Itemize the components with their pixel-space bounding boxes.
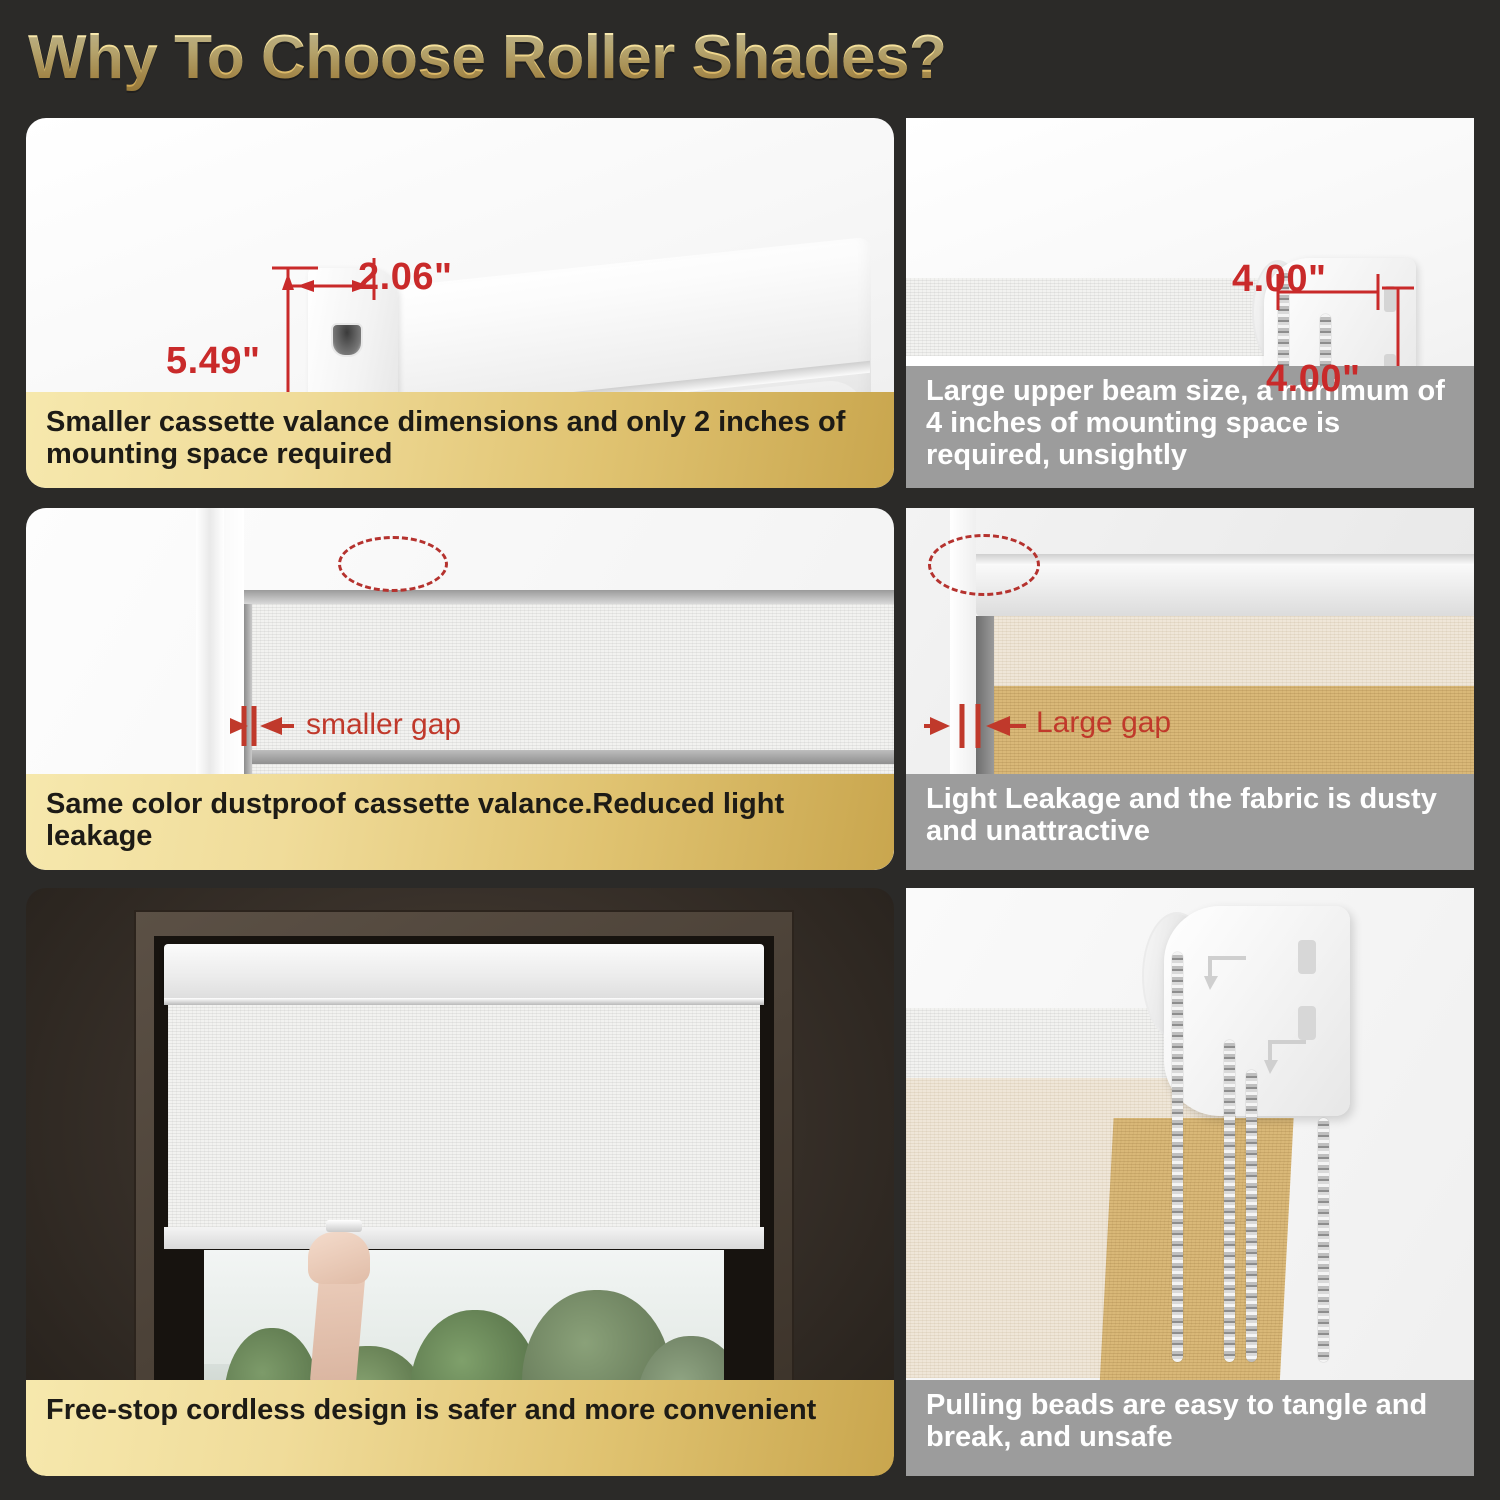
panel-cordless-design: Free-stop cordless design is safer and m… [26, 888, 894, 1476]
caption-smaller-gap: Same color dustproof cassette valance.Re… [26, 774, 894, 870]
panel-large-gap: Large gap Light Leakage and the fabric i… [906, 508, 1474, 870]
bracket-arrow-icon [1262, 1028, 1322, 1082]
caption-pulling-beads: Pulling beads are easy to tangle and bre… [906, 1380, 1474, 1476]
hand-fingers [308, 1232, 370, 1284]
large-gap-label: Large gap [1036, 706, 1171, 740]
caption-large-beam-dimensions: Large upper beam size, a minimum of 4 in… [906, 366, 1474, 488]
bracket-tab [1298, 940, 1316, 974]
cassette-slot [331, 323, 363, 357]
comparison-grid: 2.06" 5.49" Smaller cassette valance dim… [0, 0, 1500, 1500]
highlight-ellipse [338, 536, 448, 592]
gap-shadow-bar [976, 616, 994, 796]
head-rail [976, 564, 1474, 616]
fabric-beige-band [994, 616, 1474, 686]
caption-cassette-dimensions: Smaller cassette valance dimensions and … [26, 392, 894, 488]
bracket-arrow-icon [1202, 944, 1262, 998]
beam-height-dimension-label: 4.00" [1266, 358, 1360, 401]
panel-large-beam-dimensions: 4.00" 4.00" Large upper beam size, a min… [906, 118, 1474, 488]
caption-large-gap: Light Leakage and the fabric is dusty an… [906, 774, 1474, 870]
fabric-tan-panel [1098, 1118, 1293, 1408]
smaller-gap-label: smaller gap [306, 708, 461, 742]
mounting-bracket [1164, 906, 1350, 1116]
height-dimension-label: 5.49" [166, 340, 260, 383]
cassette-divider [164, 998, 764, 1005]
shade-pull-handle [326, 1220, 362, 1232]
highlight-ellipse [928, 534, 1040, 596]
panel-pulling-beads: Pulling beads are easy to tangle and bre… [906, 888, 1474, 1476]
beam-width-dimension-label: 4.00" [1232, 258, 1326, 301]
cassette-head-rail [244, 590, 894, 604]
panel-cassette-dimensions: 2.06" 5.49" Smaller cassette valance dim… [26, 118, 894, 488]
shade-bottom-bar [164, 1227, 764, 1249]
bead-chain [1224, 1040, 1235, 1362]
panel-smaller-gap: smaller gap Same color dustproof cassett… [26, 508, 894, 870]
shade-fabric [168, 1005, 760, 1227]
bead-chain [1246, 1070, 1257, 1362]
caption-cordless-design: Free-stop cordless design is safer and m… [26, 1380, 894, 1476]
cassette-valance [164, 944, 764, 1002]
bracket-notch [1384, 286, 1396, 312]
bead-chain [1318, 1118, 1329, 1362]
shade-middle-rail [244, 750, 894, 764]
width-dimension-label: 2.06" [358, 256, 452, 299]
bead-chain [1172, 952, 1183, 1362]
